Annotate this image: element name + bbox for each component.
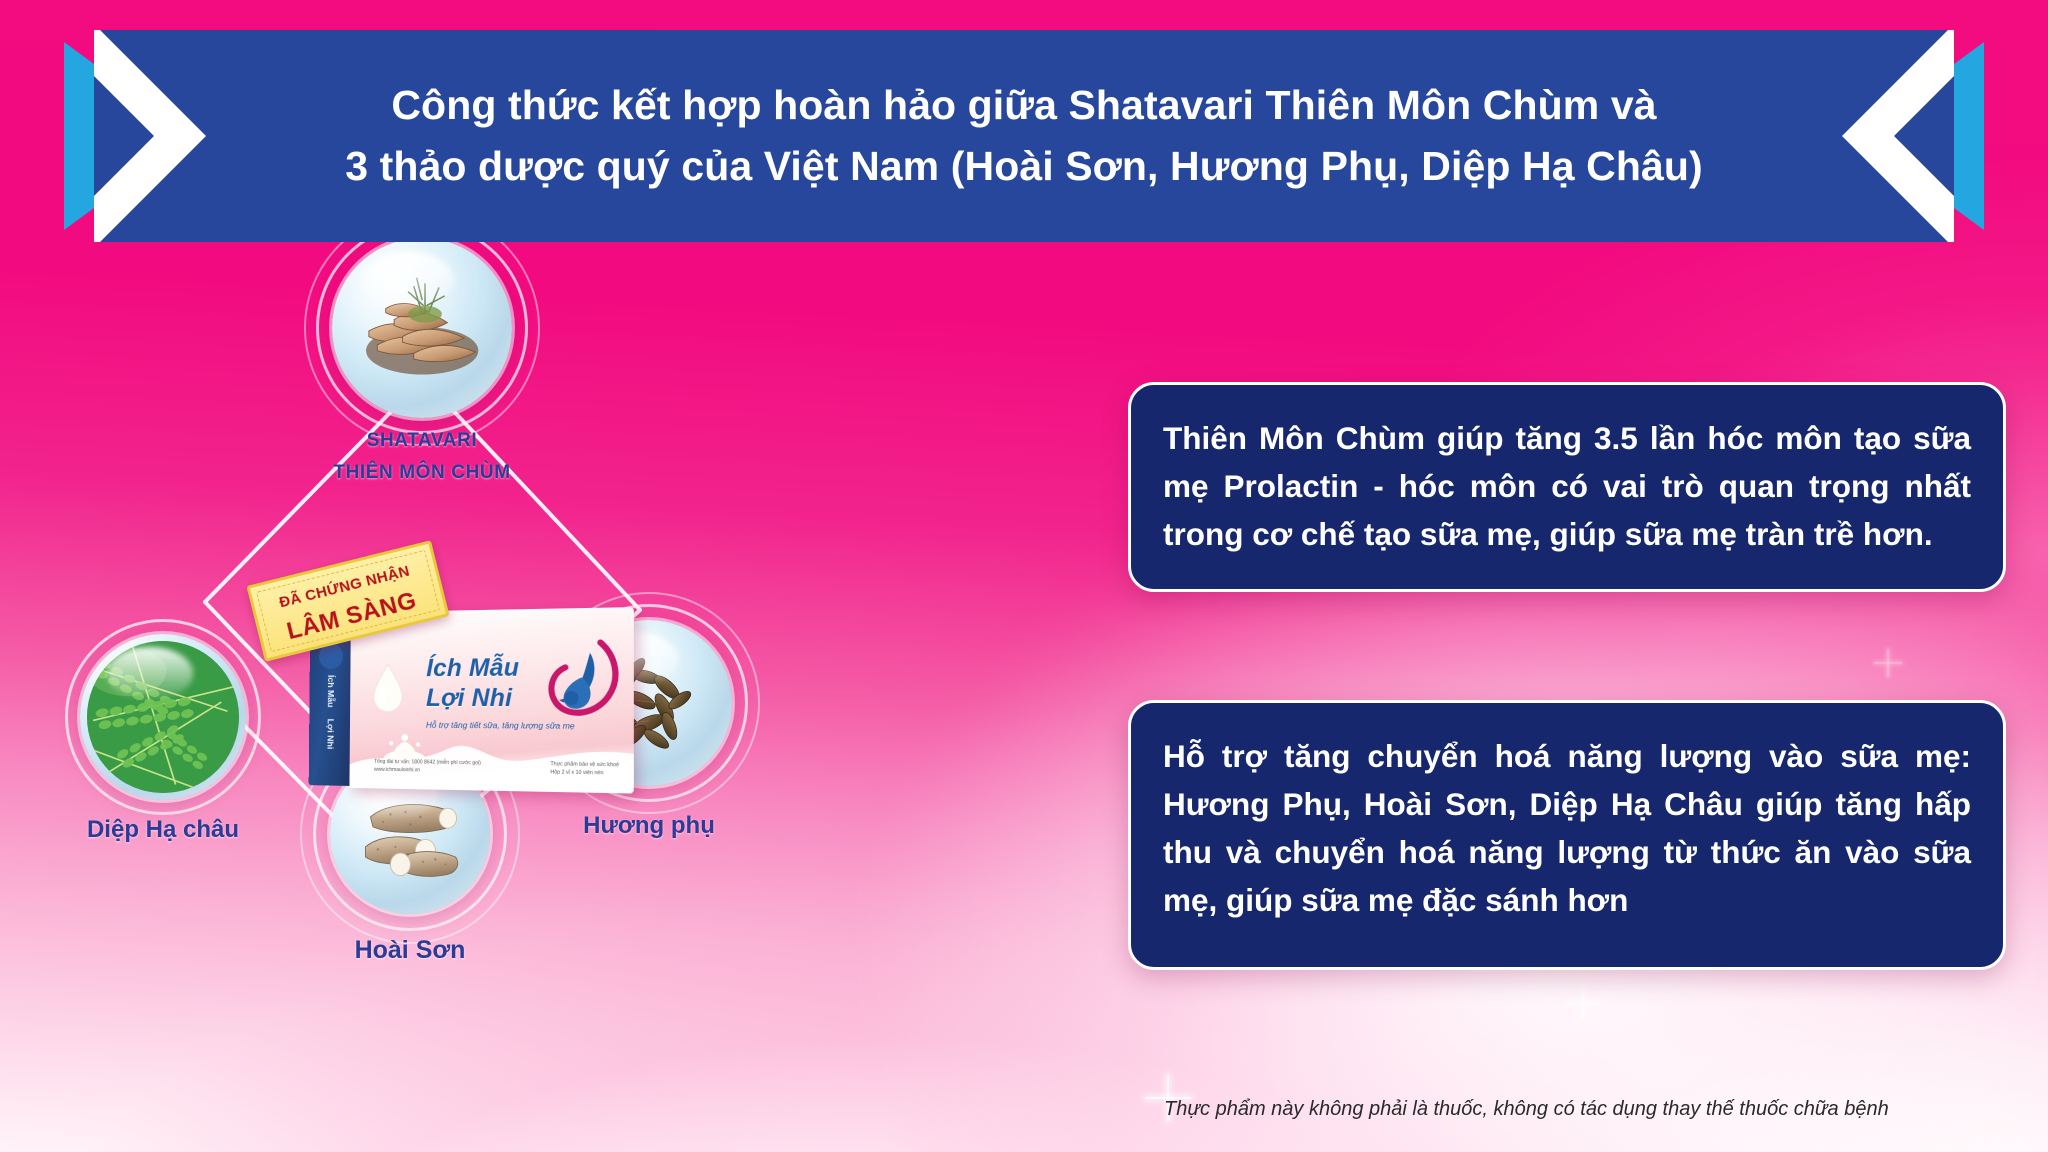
product-box-front: Ích Mẫu Lợi Nhi Hỗ trợ tăng tiết sữa, tă… [349,607,633,793]
page-title: Công thức kết hợp hoàn hảo giữa Shatavar… [94,30,1954,242]
spine-brand-line1: Ích Mẫu [326,675,336,708]
node-diep-ha-chau[interactable]: Diệp Hạ châu [80,634,246,800]
header-banner: Công thức kết hợp hoàn hảo giữa Shatavar… [0,30,2048,242]
info-panel-prolactin: Thiên Môn Chùm giúp tăng 3.5 lần hóc môn… [1128,382,2006,592]
product-quantity-text: Hộp 2 vỉ x 10 viên nén [550,770,619,779]
product-package[interactable]: Ích Mẫu Lợi Nhi Ích Mẫu Lợi Nhi [255,572,655,822]
product-brand-line2: Lợi Nhi [426,684,512,713]
milk-drop-icon [371,663,406,714]
node-label-shatavari-line2: THIÊN MÔN CHÙM [250,462,594,484]
title-line-1: Công thức kết hợp hoàn hảo giữa Shatavar… [391,82,1656,129]
product-footer-left: Tổng đài tư vấn: 1800 8642 (miễn phí cướ… [374,759,481,776]
node-label-hoai-son: Hoài Sơn [255,936,565,965]
node-shatavari[interactable]: SHATAVARI THIÊN MÔN CHÙM [332,238,512,418]
bubble-gloss [107,647,193,700]
product-footer-right: Thực phẩm bảo vệ sức khoẻ Hộp 2 vỉ x 10 … [550,762,619,779]
spine-brand-line2: Lợi Nhi [326,719,336,750]
panel-energy-text: Hỗ trợ tăng chuyển hoá năng lượng vào sữ… [1131,703,2003,955]
node-bubble [80,634,246,800]
header-band: Công thức kết hợp hoàn hảo giữa Shatavar… [94,30,1954,242]
ingredient-diagram: SHATAVARI THIÊN MÔN CHÙM [0,242,1090,1152]
bubble-gloss [361,252,455,310]
title-line-2: 3 thảo dược quý của Việt Nam (Hoài Sơn, … [345,143,1703,190]
product-tagline: Hỗ trợ tăng tiết sữa, tăng lượng sữa mẹ [426,720,575,731]
panel-prolactin-text: Thiên Môn Chùm giúp tăng 3.5 lần hóc môn… [1131,385,2003,589]
disclaimer-text: Thực phẩm này không phải là thuốc, không… [1164,1098,1889,1121]
product-brand-line1: Ích Mẫu [426,654,519,684]
info-panel-energy: Hỗ trợ tăng chuyển hoá năng lượng vào sữ… [1128,700,2006,970]
node-label-shatavari-line1: SHATAVARI [250,430,594,452]
node-bubble [332,238,512,418]
